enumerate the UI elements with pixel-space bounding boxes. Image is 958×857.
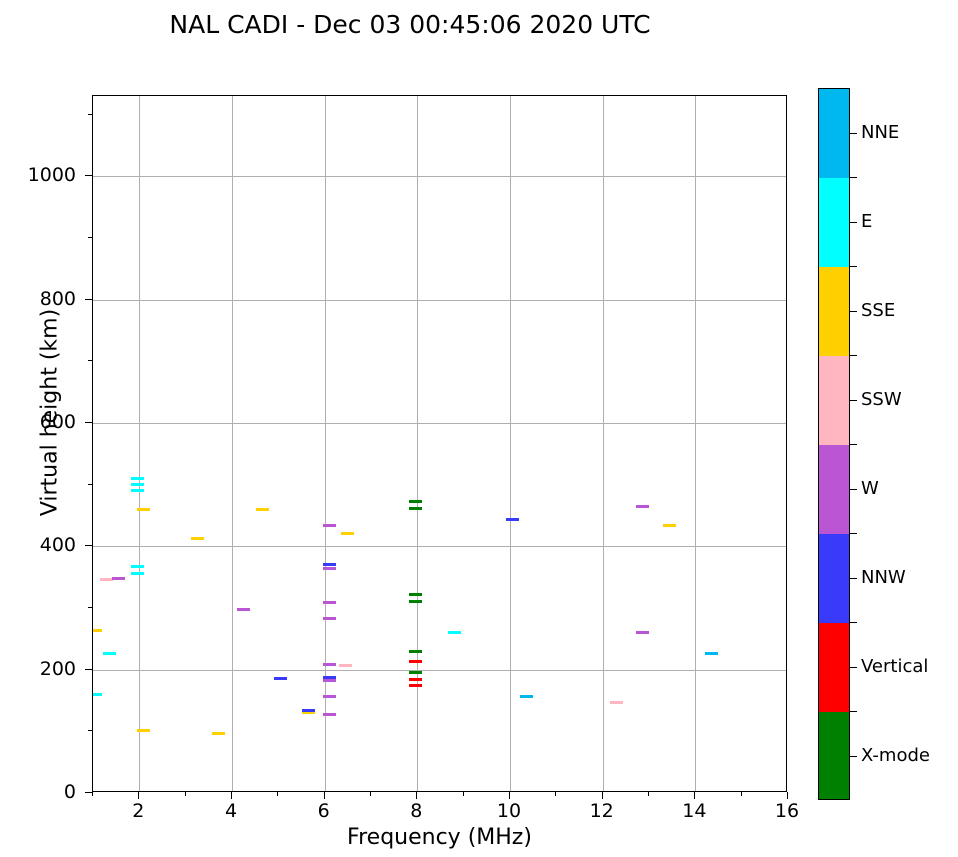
gridline-vertical (603, 96, 604, 791)
data-point-w (112, 577, 125, 580)
x-axis-tick-label: 10 (479, 800, 539, 822)
x-axis-label: Frequency (MHz) (92, 825, 787, 850)
data-point-w (323, 695, 336, 698)
x-axis-minor-tick (555, 792, 556, 796)
y-axis-minor-tick (88, 607, 92, 608)
gridline-vertical (232, 96, 233, 791)
gridline-horizontal (93, 546, 786, 547)
data-point-vertical (409, 678, 422, 681)
colorbar-segment-e[interactable] (819, 178, 849, 267)
page-title: NAL CADI - Dec 03 00:45:06 2020 UTC (0, 10, 820, 39)
x-axis-minor-tick (741, 792, 742, 796)
gridline-vertical (325, 96, 326, 791)
x-axis-tick (787, 792, 788, 799)
colorbar-label-e: E (861, 211, 872, 232)
x-axis-minor-tick (185, 792, 186, 796)
data-point-e (131, 572, 144, 575)
data-point-x-mode (409, 593, 422, 596)
colorbar-label-sse: SSE (861, 300, 895, 321)
data-point-x-mode (409, 671, 422, 674)
gridline-horizontal (93, 423, 786, 424)
colorbar-segment-nnw[interactable] (819, 534, 849, 623)
y-axis-tick-label: 1000 (0, 164, 76, 186)
data-point-e (92, 693, 102, 696)
y-axis-minor-tick (88, 237, 92, 238)
data-point-x-mode (409, 507, 422, 510)
y-axis-minor-tick (88, 360, 92, 361)
x-axis-minor-tick (92, 792, 93, 796)
data-point-nnw (506, 518, 519, 521)
data-point-sse (137, 508, 150, 511)
data-point-e (131, 489, 144, 492)
colorbar-label-x-mode: X-mode (861, 745, 930, 766)
colorbar-tick (850, 133, 857, 134)
colorbar-boundary-tick (850, 533, 857, 534)
colorbar-tick (850, 489, 857, 490)
x-axis-tick (694, 792, 695, 799)
data-point-nnw (323, 676, 336, 679)
y-axis-tick (85, 545, 92, 546)
colorbar-boundary-tick (850, 266, 857, 267)
colorbar-tick (850, 400, 857, 401)
colorbar-label-ssw: SSW (861, 389, 902, 410)
gridline-horizontal (93, 300, 786, 301)
y-axis-label: Virtual height (km) (38, 213, 63, 613)
data-point-w (323, 524, 336, 527)
y-axis-tick (85, 422, 92, 423)
data-point-w (323, 663, 336, 666)
data-point-w (323, 713, 336, 716)
colorbar-segment-x-mode[interactable] (819, 712, 849, 800)
x-axis-minor-tick (370, 792, 371, 796)
y-axis-tick-label: 200 (0, 658, 76, 680)
y-axis-minor-tick (88, 114, 92, 115)
data-point-e (131, 483, 144, 486)
x-axis-tick-label: 2 (108, 800, 168, 822)
colorbar-label-w: W (861, 478, 879, 499)
colorbar-boundary-tick (850, 355, 857, 356)
data-point-w (323, 601, 336, 604)
colorbar-segment-sse[interactable] (819, 267, 849, 356)
y-axis-minor-tick (88, 484, 92, 485)
data-point-nnw (274, 677, 287, 680)
colorbar-boundary-tick (850, 711, 857, 712)
x-axis-tick-label: 4 (201, 800, 261, 822)
data-point-e (448, 631, 461, 634)
data-point-ssw (339, 664, 352, 667)
colorbar-segment-ssw[interactable] (819, 356, 849, 445)
colorbar-segment-nne[interactable] (819, 89, 849, 178)
data-point-w (323, 679, 336, 682)
x-axis-tick-label: 16 (757, 800, 817, 822)
data-point-w (323, 567, 336, 570)
data-point-vertical (409, 660, 422, 663)
data-point-sse (212, 732, 225, 735)
data-point-nnw (323, 563, 336, 566)
gridline-vertical (510, 96, 511, 791)
y-axis-tick-label: 0 (0, 781, 76, 803)
data-point-w (636, 631, 649, 634)
x-axis-tick-label: 14 (664, 800, 724, 822)
y-axis-tick (85, 792, 92, 793)
x-axis-tick (602, 792, 603, 799)
x-axis-tick (231, 792, 232, 799)
colorbar-tick (850, 222, 857, 223)
data-point-nnw (302, 709, 315, 712)
data-point-x-mode (409, 600, 422, 603)
data-point-w (237, 608, 250, 611)
data-point-sse (341, 532, 354, 535)
colorbar-label-vertical: Vertical (861, 656, 928, 677)
data-point-sse (92, 629, 102, 632)
colorbar-tick (850, 667, 857, 668)
colorbar-tick (850, 578, 857, 579)
colorbar-segment-vertical[interactable] (819, 623, 849, 712)
data-point-w (323, 617, 336, 620)
data-point-sse (191, 537, 204, 540)
y-axis-tick (85, 669, 92, 670)
x-axis-tick-label: 12 (572, 800, 632, 822)
gridline-horizontal (93, 176, 786, 177)
data-point-sse (663, 524, 676, 527)
gridline-horizontal (93, 670, 786, 671)
data-point-ssw (610, 701, 623, 704)
data-point-x-mode (409, 500, 422, 503)
x-axis-tick (324, 792, 325, 799)
gridline-vertical (139, 96, 140, 791)
colorbar[interactable] (818, 88, 850, 800)
x-axis-minor-tick (648, 792, 649, 796)
data-point-e (103, 652, 116, 655)
gridline-vertical (695, 96, 696, 791)
data-point-w (636, 505, 649, 508)
x-axis-minor-tick (277, 792, 278, 796)
colorbar-boundary-tick (850, 177, 857, 178)
colorbar-boundary-tick (850, 444, 857, 445)
data-point-e (131, 565, 144, 568)
data-point-nne (520, 695, 533, 698)
x-axis-tick-label: 6 (294, 800, 354, 822)
x-axis-tick-label: 8 (386, 800, 446, 822)
ionogram-figure: NAL CADI - Dec 03 00:45:06 2020 UTC 2468… (0, 0, 958, 857)
data-point-sse (256, 508, 269, 511)
colorbar-label-nnw: NNW (861, 567, 906, 588)
data-point-vertical (409, 684, 422, 687)
x-axis-minor-tick (463, 792, 464, 796)
x-axis-tick (509, 792, 510, 799)
colorbar-tick (850, 311, 857, 312)
data-point-sse (137, 729, 150, 732)
data-point-e (131, 477, 144, 480)
y-axis-tick (85, 175, 92, 176)
colorbar-boundary-tick (850, 622, 857, 623)
y-axis-minor-tick (88, 730, 92, 731)
plot-area[interactable] (92, 95, 787, 792)
y-axis-tick (85, 299, 92, 300)
x-axis-tick (416, 792, 417, 799)
x-axis-tick (138, 792, 139, 799)
colorbar-label-nne: NNE (861, 122, 899, 143)
colorbar-tick (850, 756, 857, 757)
data-point-nne (705, 652, 718, 655)
colorbar-segment-w[interactable] (819, 445, 849, 534)
data-point-x-mode (409, 650, 422, 653)
